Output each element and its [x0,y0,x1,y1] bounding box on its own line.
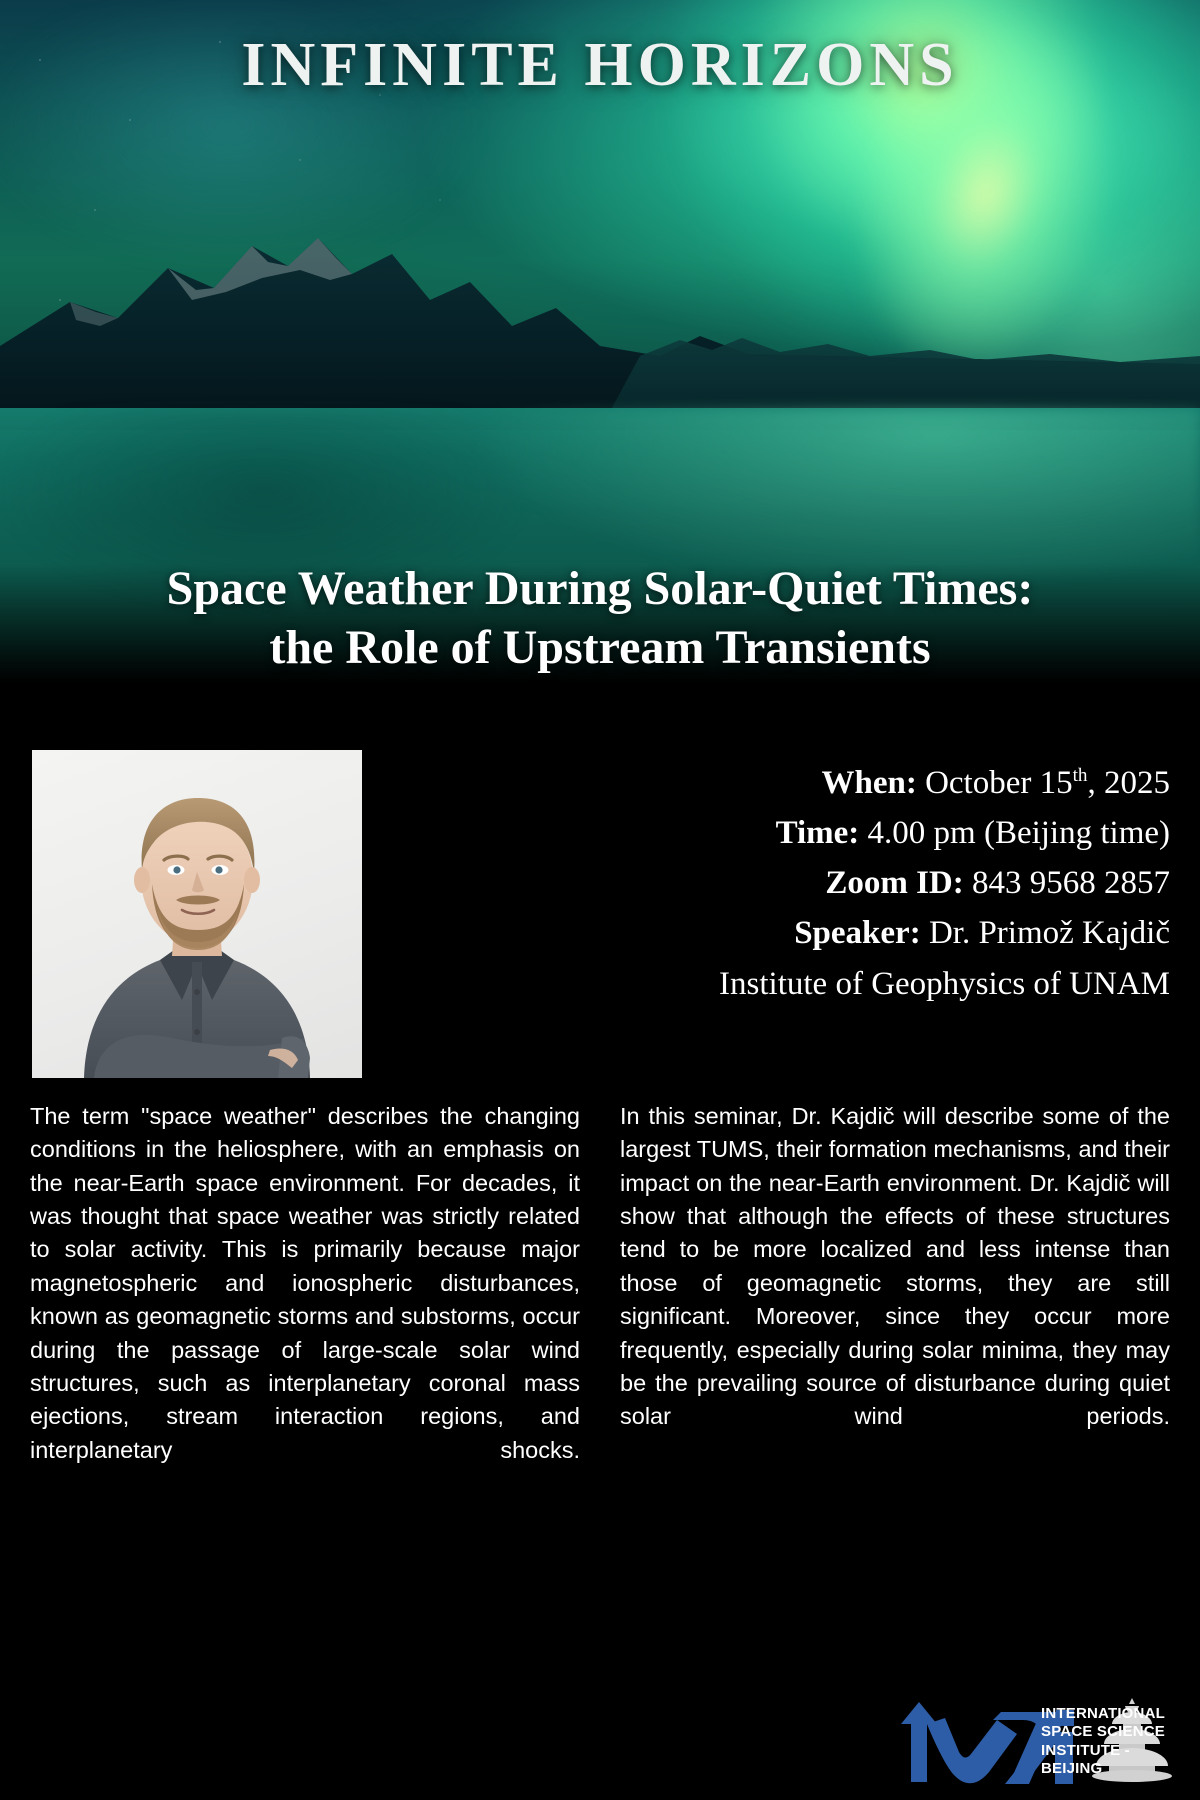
event-details: When: October 15th, 2025 Time: 4.00 pm (… [550,758,1170,1009]
time-label: Time: [776,815,860,851]
abstract-column-right: In this seminar, Dr. Kajdič will describ… [620,1100,1170,1500]
abstract-left-text: The term "space weather" describes the c… [30,1100,580,1500]
issi-beijing-logo: INTERNATIONAL SPACE SCIENCE INSTITUTE - … [893,1688,1178,1792]
seminar-title-line-1: Space Weather During Solar-Quiet Times: [20,560,1180,619]
abstract-columns: The term "space weather" describes the c… [30,1100,1170,1500]
speaker-affiliation: Institute of Geophysics of UNAM [550,959,1170,1009]
speaker-label: Speaker: [794,915,921,951]
zoom-id-value[interactable]: 843 9568 2857 [972,865,1170,901]
detail-time: Time: 4.00 pm (Beijing time) [550,808,1170,858]
issi-logo-line-4: BEIJING [1041,1760,1165,1778]
when-value: October 15 [925,765,1073,801]
seminar-poster: INFINITE HORIZONS Space Weather During S… [0,0,1200,1800]
abstract-right-text: In this seminar, Dr. Kajdič will describ… [620,1100,1170,1467]
issi-logo-line-2: SPACE SCIENCE [1041,1723,1165,1741]
issi-logo-line-3: INSTITUTE - [1041,1742,1165,1760]
when-year: , 2025 [1088,765,1171,801]
time-value: 4.00 pm (Beijing time) [868,815,1170,851]
seminar-title-line-2: the Role of Upstream Transients [20,619,1180,678]
zoom-id-label: Zoom ID: [825,865,963,901]
speaker-photo [32,750,362,1078]
brand-title: INFINITE HORIZONS [0,30,1200,101]
abstract-column-left: The term "space weather" describes the c… [30,1100,580,1500]
speaker-value: Dr. Primož Kajdič [929,915,1170,951]
speaker-portrait-illustration [32,750,362,1078]
when-ordinal: th [1073,765,1088,786]
issi-logo-text: INTERNATIONAL SPACE SCIENCE INSTITUTE - … [1041,1705,1165,1778]
when-label: When: [821,765,916,801]
detail-speaker: Speaker: Dr. Primož Kajdič [550,908,1170,958]
detail-zoom-id[interactable]: Zoom ID: 843 9568 2857 [550,858,1170,908]
seminar-title: Space Weather During Solar-Quiet Times: … [0,560,1200,677]
mountain-silhouette [0,150,1200,430]
detail-when: When: October 15th, 2025 [550,758,1170,808]
issi-logo-line-1: INTERNATIONAL [1041,1705,1165,1723]
